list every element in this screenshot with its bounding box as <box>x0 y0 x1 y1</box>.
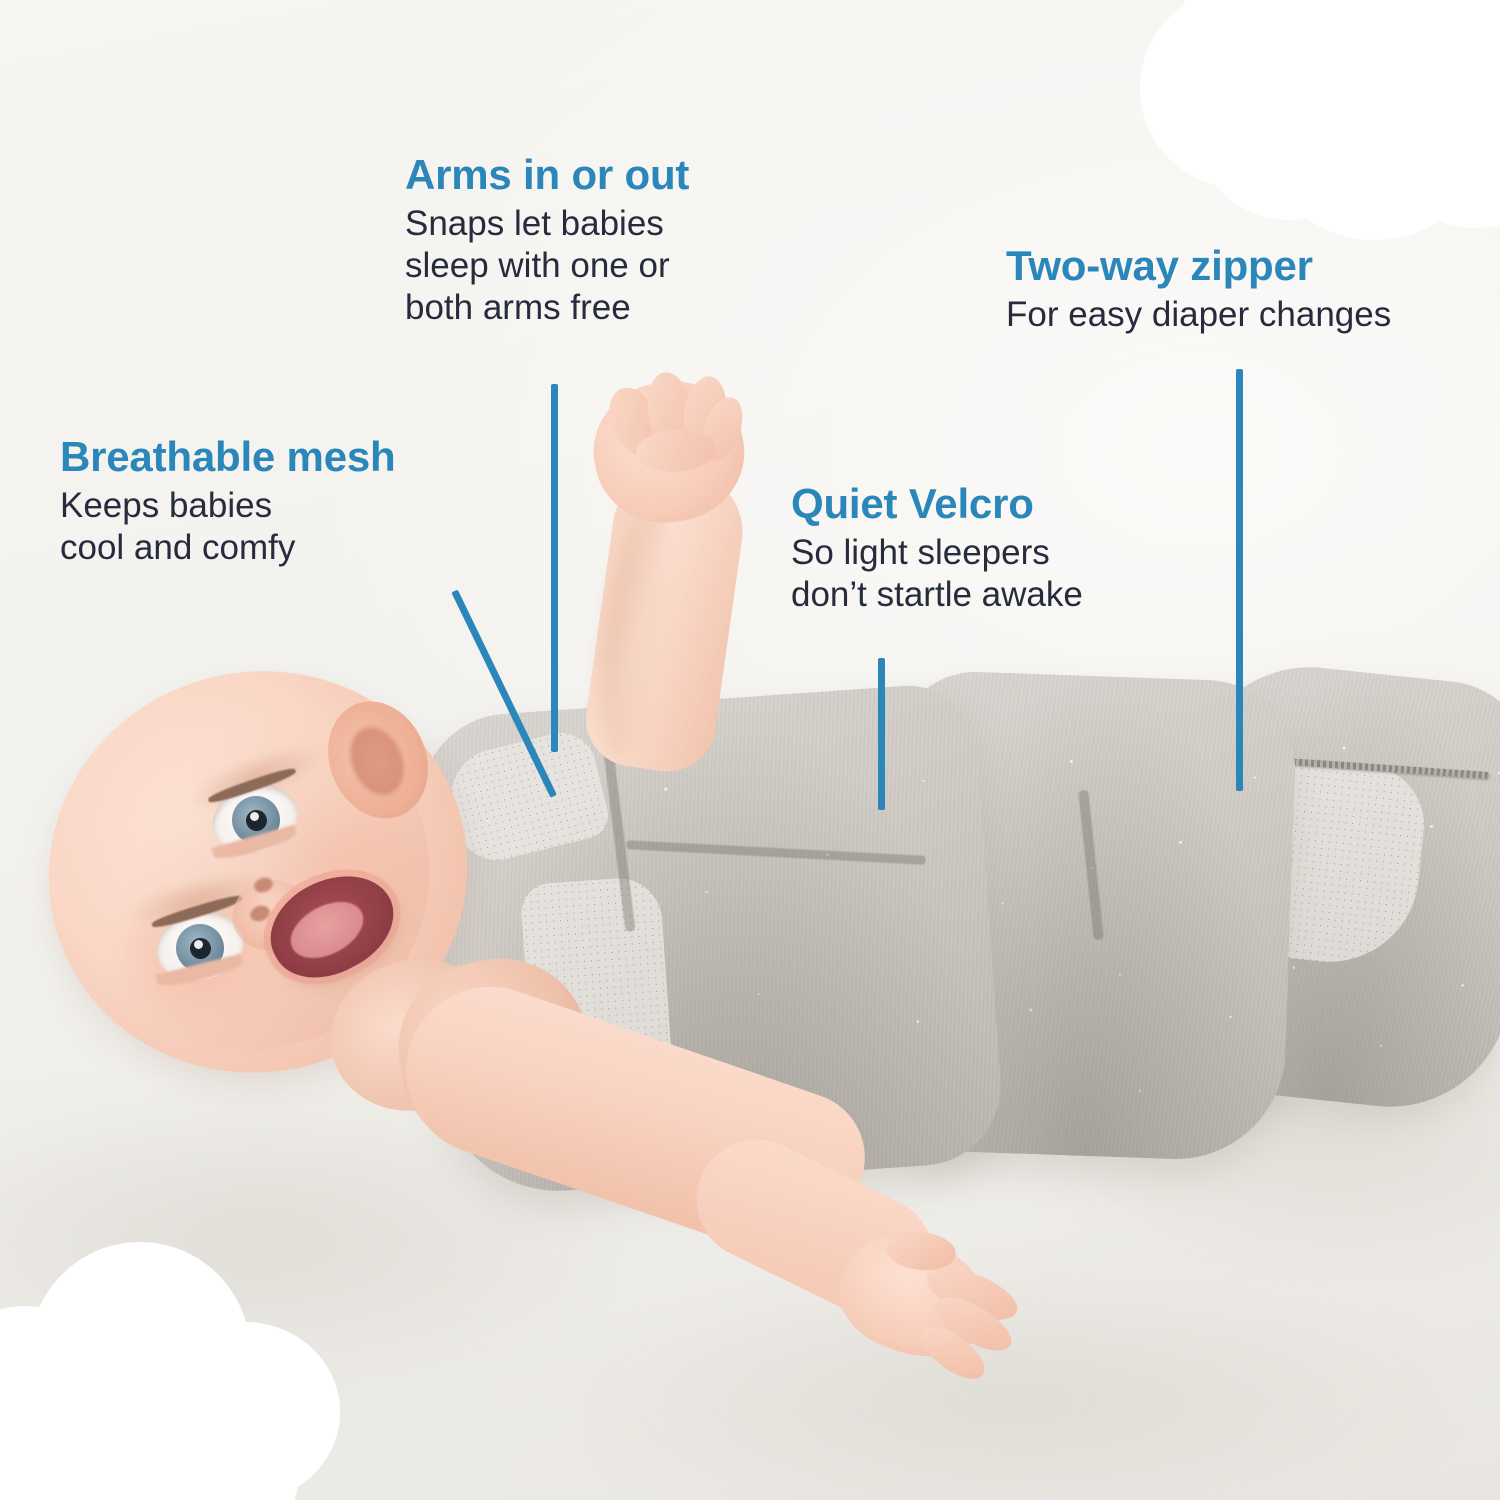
callout-body-line: For easy diaper changes <box>1006 294 1391 336</box>
callout-title-arms-in-or-out: Arms in or out <box>405 152 689 197</box>
leader-line-arms-in-or-out <box>551 384 558 752</box>
callout-body-line: So light sleepers <box>791 532 1083 574</box>
callout-body-arms-in-or-out: Snaps let babies sleep with one or both … <box>405 203 689 329</box>
baby-photo <box>0 0 1500 1500</box>
callout-body-line: Keeps babies <box>60 485 395 527</box>
callout-title-quiet-velcro: Quiet Velcro <box>791 481 1083 526</box>
callout-body-line: sleep with one or <box>405 245 689 287</box>
callout-two-way-zipper: Two-way zipper For easy diaper changes <box>1006 243 1391 336</box>
callout-body-line: don’t startle awake <box>791 574 1083 616</box>
leader-line-quiet-velcro <box>878 658 885 810</box>
callout-arms-in-or-out: Arms in or out Snaps let babies sleep wi… <box>405 152 689 329</box>
eye-glint <box>194 940 203 949</box>
callout-body-quiet-velcro: So light sleepers don’t startle awake <box>791 532 1083 616</box>
callout-body-line: Snaps let babies <box>405 203 689 245</box>
callout-title-two-way-zipper: Two-way zipper <box>1006 243 1391 288</box>
callout-body-line: both arms free <box>405 287 689 329</box>
callout-title-breathable-mesh: Breathable mesh <box>60 434 395 479</box>
callout-quiet-velcro: Quiet Velcro So light sleepers don’t sta… <box>791 481 1083 616</box>
eye-glint <box>250 812 259 821</box>
callout-body-line: cool and comfy <box>60 527 395 569</box>
callout-breathable-mesh: Breathable mesh Keeps babies cool and co… <box>60 434 395 569</box>
infographic-canvas: Arms in or out Snaps let babies sleep wi… <box>0 0 1500 1500</box>
callout-body-two-way-zipper: For easy diaper changes <box>1006 294 1391 336</box>
leader-line-two-way-zipper <box>1236 369 1243 791</box>
callout-body-breathable-mesh: Keeps babies cool and comfy <box>60 485 395 569</box>
